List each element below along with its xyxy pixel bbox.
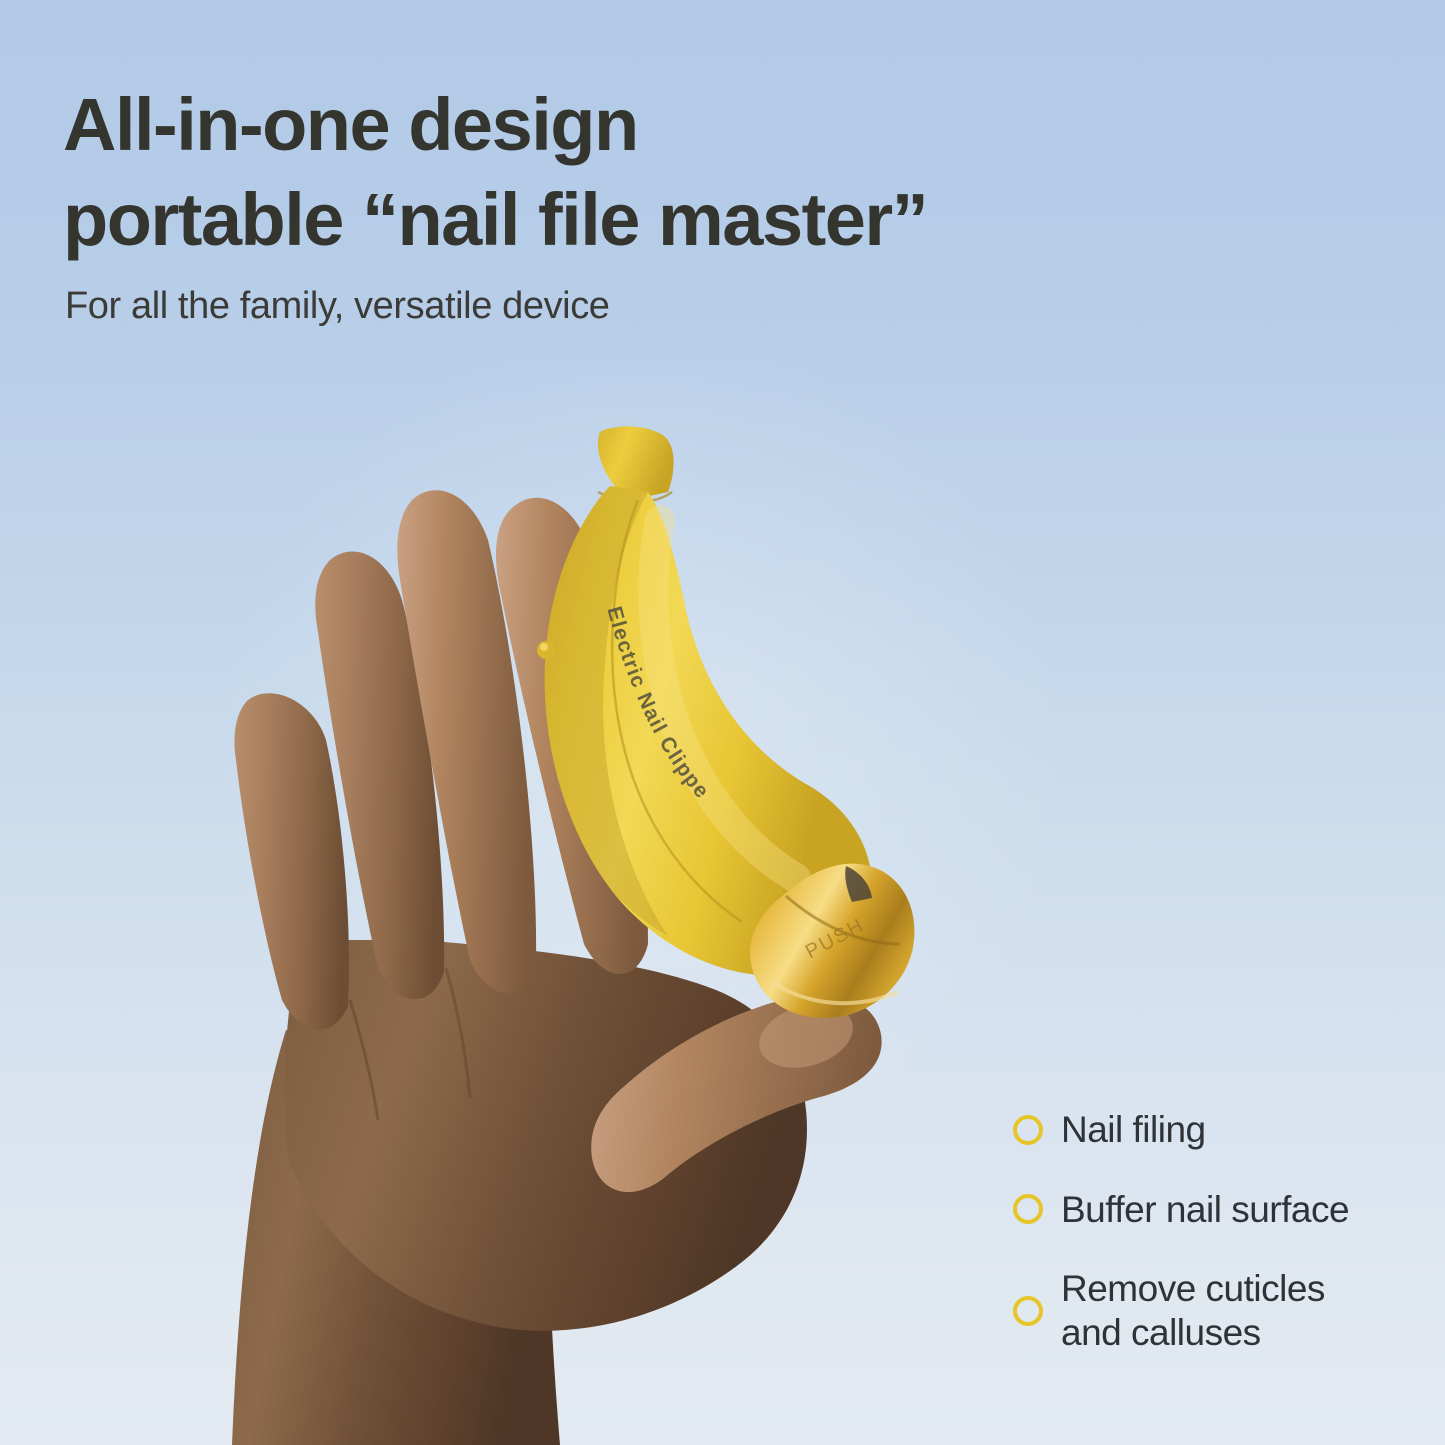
list-item: Remove cuticles and calluses [1013,1267,1413,1354]
product-poster: PUSH Electric Nail Clipper All-in-one de… [0,0,1445,1445]
device-body-shadow [545,486,668,936]
feature-label: Nail filing [1061,1108,1206,1152]
device-button [537,641,555,659]
device-seam [612,500,742,922]
forearm [232,1030,560,1445]
device-gold-base [750,864,914,1018]
backlight-glow [210,330,1070,1190]
device-button-shine [540,643,548,651]
feature-list: Nail filing Buffer nail surface Remove c… [1013,1108,1413,1355]
device-stem [598,426,674,500]
page-subtitle: For all the family, versatile device [65,285,610,328]
finger-crease-2 [446,968,470,1098]
device-body [545,486,872,975]
blade-slot [845,866,872,902]
list-item: Nail filing [1013,1108,1413,1152]
hand [232,490,882,1445]
device-highlight [653,520,796,878]
page-title: All-in-one design portable “nail file ma… [63,78,1163,267]
finger-pinky [235,693,350,1029]
finger-index [496,498,648,974]
thumb [591,995,881,1192]
finger-ring [315,551,444,999]
feature-label: Buffer nail surface [1061,1188,1349,1232]
stem-seam [598,492,672,502]
finger-middle [397,490,536,993]
circle-bullet-icon [1013,1296,1043,1326]
gold-base-edge [772,982,898,1003]
finger-crease-1 [350,1000,378,1120]
device-base-label: PUSH [802,914,868,963]
thumb-nail [752,994,861,1078]
feature-label: Remove cuticles and calluses [1061,1267,1325,1354]
palm [284,940,807,1331]
list-item: Buffer nail surface [1013,1188,1413,1232]
gold-base-rim [786,896,900,944]
circle-bullet-icon [1013,1115,1043,1145]
circle-bullet-icon [1013,1194,1043,1224]
